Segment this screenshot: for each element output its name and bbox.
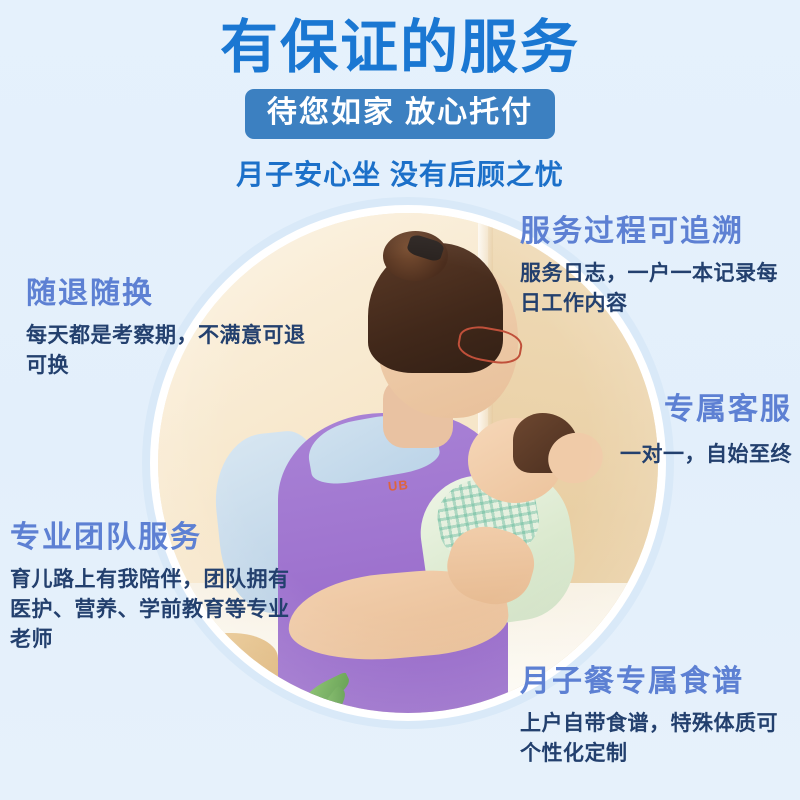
poster-header: 有保证的服务 待您如家 放心托付 月子安心坐 没有后顾之忧	[0, 0, 800, 193]
uniform-logo: UB	[387, 477, 409, 494]
feature-title: 专属客服	[540, 392, 792, 428]
badge-container: 待您如家 放心托付	[0, 89, 800, 140]
feature-description: 上户自带食谱，特殊体质可个性化定制	[520, 709, 796, 769]
feature-description: 每天都是考察期，不满意可退可换	[26, 321, 326, 381]
feature-description: 服务日志，一户一本记录每日工作内容	[520, 259, 792, 319]
feature-postpartum-menu: 月子餐专属食谱 上户自带食谱，特殊体质可个性化定制	[520, 664, 796, 769]
feature-description: 一对一，自始至终	[540, 440, 792, 470]
feature-return-exchange: 随退随换 每天都是考察期，不满意可退可换	[26, 276, 326, 381]
feature-title: 服务过程可追溯	[520, 214, 792, 250]
tagline-badge: 待您如家 放心托付	[245, 89, 555, 140]
feature-title: 随退随换	[26, 276, 326, 312]
feature-description: 育儿路上有我陪伴，团队拥有医护、营养、学前教育等专业老师	[10, 565, 310, 654]
feature-dedicated-support: 专属客服 一对一，自始至终	[540, 392, 792, 470]
page-subtitle: 月子安心坐 没有后顾之忧	[0, 153, 800, 193]
feature-professional-team: 专业团队服务 育儿路上有我陪伴，团队拥有医护、营养、学前教育等专业老师	[10, 520, 310, 654]
feature-title: 月子餐专属食谱	[520, 664, 796, 700]
feature-title: 专业团队服务	[10, 520, 310, 556]
page-title: 有保证的服务	[0, 0, 800, 81]
feature-traceable-service: 服务过程可追溯 服务日志，一户一本记录每日工作内容	[520, 214, 792, 319]
promo-poster: 有保证的服务 待您如家 放心托付 月子安心坐 没有后顾之忧 UB	[0, 0, 800, 800]
